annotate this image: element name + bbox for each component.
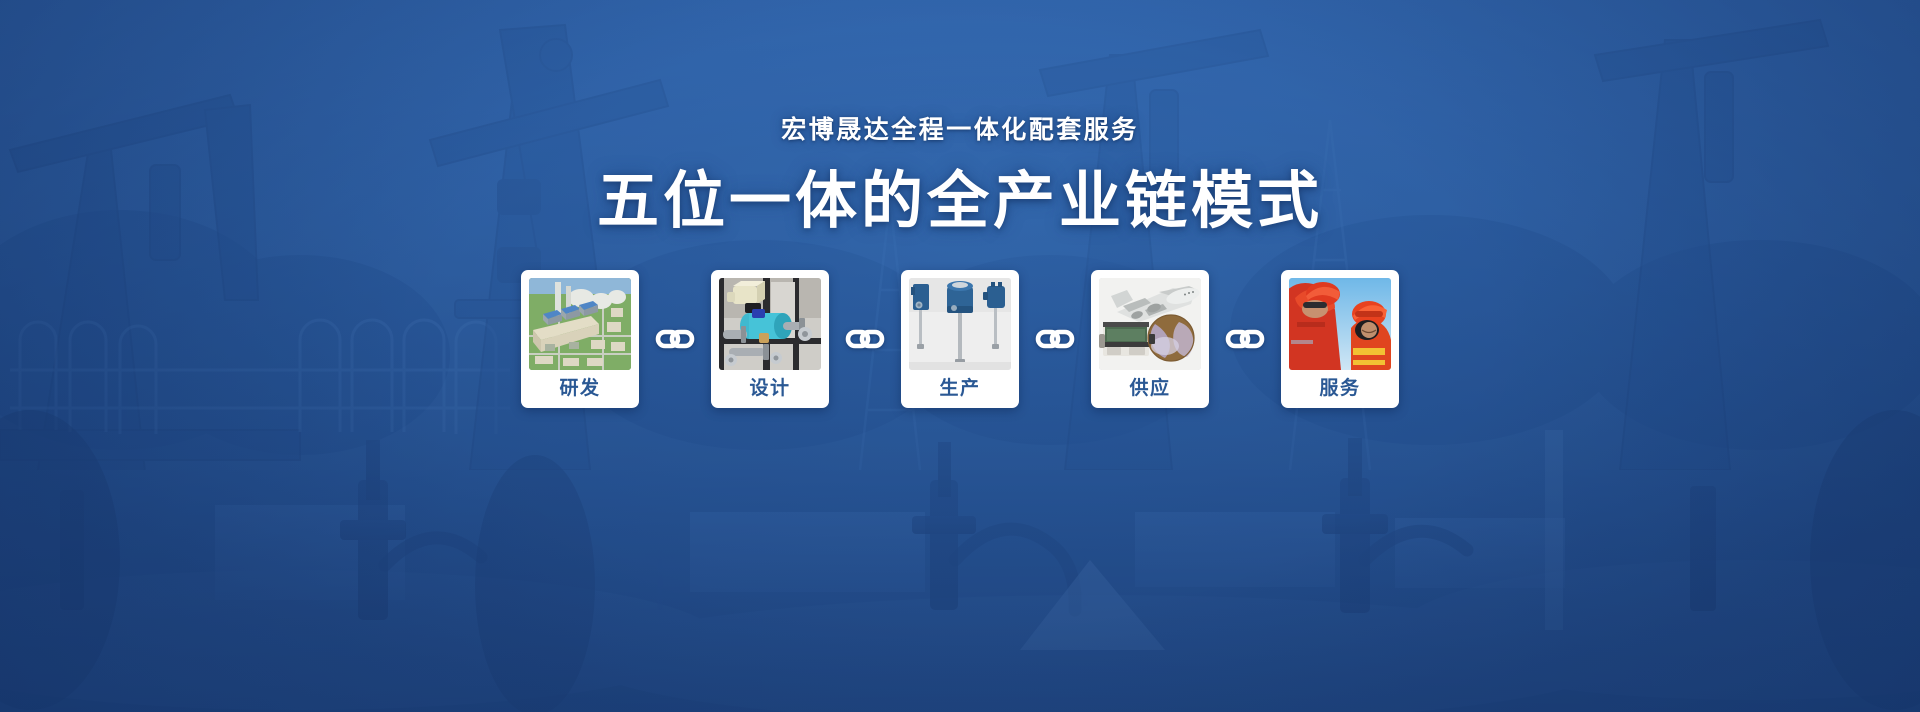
value-chain-row: 研发 xyxy=(0,270,1920,408)
chain-card-shengchan[interactable]: 生产 xyxy=(901,270,1019,408)
chain-card-label: 设计 xyxy=(749,379,790,398)
industrial-plant-aerial-thumb xyxy=(529,278,631,370)
chain-card-gongying[interactable]: 供应 xyxy=(1091,270,1209,408)
headline-block: 宏博晟达全程一体化配套服务 五位一体的全产业链模式 xyxy=(0,118,1920,236)
chain-card-fuwu[interactable]: 服务 xyxy=(1281,270,1399,408)
chain-link-icon xyxy=(845,327,885,351)
banner-title: 五位一体的全产业链模式 xyxy=(0,169,1920,236)
chain-link-icon xyxy=(655,327,695,351)
banner-subtitle: 宏博晟达全程一体化配套服务 xyxy=(0,118,1920,143)
chain-connector-1 xyxy=(639,270,711,408)
chain-card-label: 供应 xyxy=(1129,379,1170,398)
chain-card-label: 研发 xyxy=(559,379,600,398)
airplane-truck-globe-logistics-thumb xyxy=(1099,278,1201,370)
workers-red-safety-gear-thumb xyxy=(1289,278,1391,370)
chain-connector-3 xyxy=(1019,270,1091,408)
chain-card-yanfa[interactable]: 研发 xyxy=(521,270,639,408)
blue-instrument-devices-thumb xyxy=(909,278,1011,370)
chain-card-sheji[interactable]: 设计 xyxy=(711,270,829,408)
chain-connector-2 xyxy=(829,270,901,408)
chain-card-label: 服务 xyxy=(1319,379,1360,398)
chain-link-icon xyxy=(1225,327,1265,351)
chain-connector-4 xyxy=(1209,270,1281,408)
chain-card-label: 生产 xyxy=(939,379,980,398)
chain-link-icon xyxy=(1035,327,1075,351)
hero-banner: 宏博晟达全程一体化配套服务 五位一体的全产业链模式 xyxy=(0,0,1920,712)
cad-pump-assembly-thumb xyxy=(719,278,821,370)
